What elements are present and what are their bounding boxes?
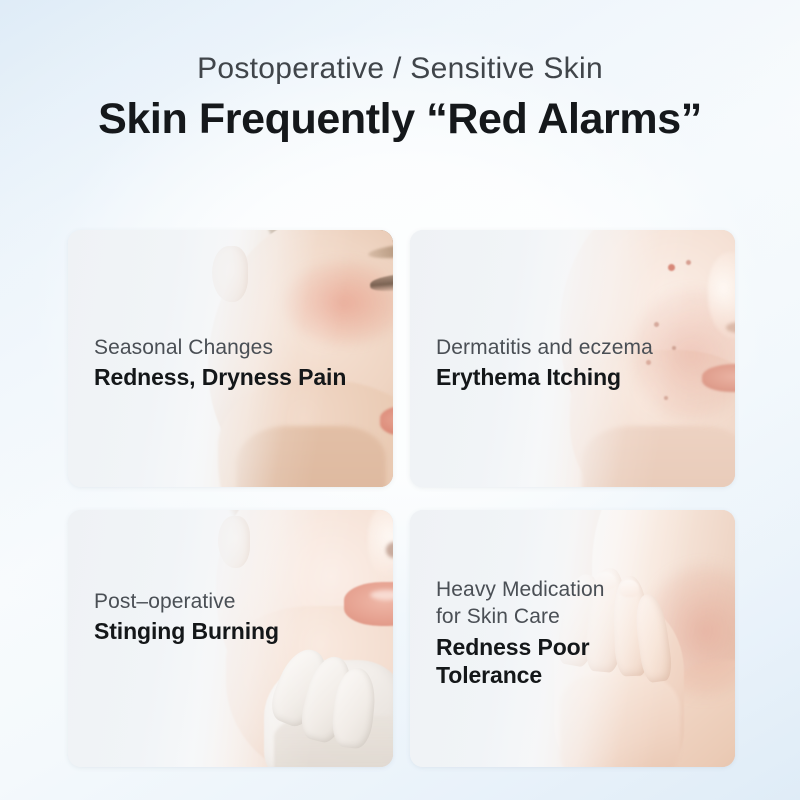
card-post-operative[interactable]: Post–operative Stinging Burning	[68, 510, 393, 767]
header: Postoperative / Sensitive Skin Skin Freq…	[0, 52, 800, 143]
card-headline-line-2: Tolerance	[436, 661, 605, 690]
card-kicker: Seasonal Changes	[94, 334, 346, 361]
page-subtitle: Postoperative / Sensitive Skin	[0, 52, 800, 86]
card-text-block: Post–operative Stinging Burning	[94, 588, 279, 646]
card-text-block: Seasonal Changes Redness, Dryness Pain	[94, 334, 346, 392]
poster-root: Postoperative / Sensitive Skin Skin Freq…	[0, 0, 800, 800]
card-headline: Erythema Itching	[436, 363, 653, 392]
card-grid: Seasonal Changes Redness, Dryness Pain	[68, 230, 735, 767]
card-dermatitis-eczema[interactable]: Dermatitis and eczema Erythema Itching	[410, 230, 735, 487]
card-seasonal-changes[interactable]: Seasonal Changes Redness, Dryness Pain	[68, 230, 393, 487]
card-kicker: Dermatitis and eczema	[436, 334, 653, 361]
page-title: Skin Frequently “Red Alarms”	[0, 95, 800, 143]
card-heavy-medication[interactable]: Heavy Medication for Skin Care Redness P…	[410, 510, 735, 767]
card-text-block: Dermatitis and eczema Erythema Itching	[436, 334, 653, 392]
card-headline: Stinging Burning	[94, 617, 279, 646]
card-kicker-line-1: Heavy Medication	[436, 576, 605, 603]
card-kicker: Post–operative	[94, 588, 279, 615]
card-text-block: Heavy Medication for Skin Care Redness P…	[436, 576, 605, 690]
card-kicker-line-2: for Skin Care	[436, 603, 605, 630]
card-headline: Redness, Dryness Pain	[94, 363, 346, 392]
card-headline-line-1: Redness Poor	[436, 633, 605, 662]
